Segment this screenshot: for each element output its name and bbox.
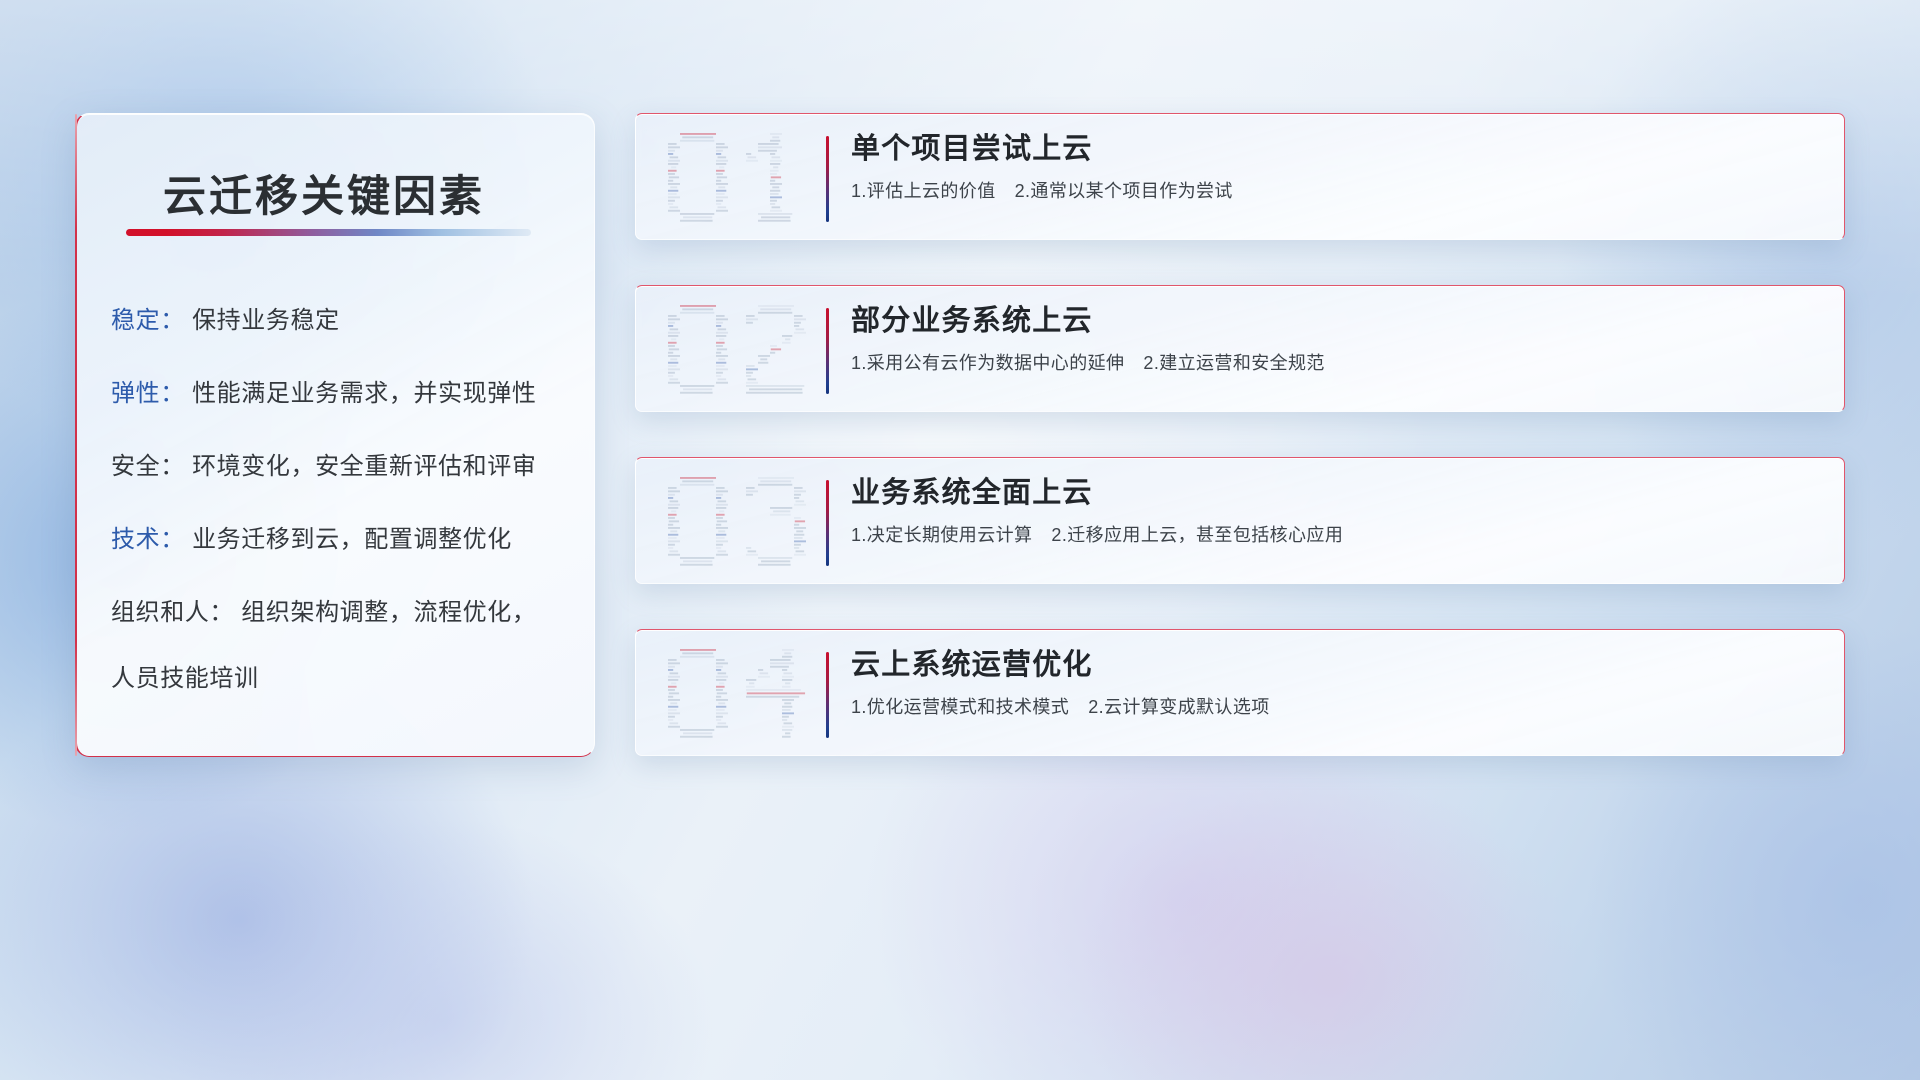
stage-card-title: 业务系统全面上云 (851, 475, 1824, 511)
key-factor-label: 安全： (111, 453, 185, 480)
card-divider-accent (826, 308, 829, 394)
key-factor-text: 性能满足业务需求，并实现弹性 (185, 380, 537, 407)
stage-card-subtitle: 1.决定长期使用云计算2.迁移应用上云，甚至包括核心应用 (851, 524, 1824, 547)
sliced-digits-icon (662, 300, 822, 400)
stage-card-body: 云上系统运营优化1.优化运营模式和技术模式2.云计算变成默认选项 (851, 647, 1824, 720)
stage-cards-list: 单个项目尝试上云1.评估上云的价值2.通常以某个项目作为尝试部分业务系统上云1.… (635, 113, 1845, 756)
stage-card-subtitle-item-2: 2.迁移应用上云，甚至包括核心应用 (1051, 525, 1343, 545)
key-factor-label: 稳定： (111, 307, 185, 334)
page-title: 云迁移关键因素 (163, 162, 485, 224)
stage-card-subtitle: 1.评估上云的价值2.通常以某个项目作为尝试 (851, 180, 1824, 203)
card-divider-accent (826, 136, 829, 222)
key-factor-label: 弹性： (111, 380, 185, 407)
background-glow-bottom-left-2 (60, 740, 820, 1080)
stage-card-subtitle-item-2: 2.云计算变成默认选项 (1088, 697, 1269, 717)
key-factor-item: 安全： 环境变化，安全重新评估和评审 (111, 455, 571, 479)
stage-card-subtitle-item-1: 1.优化运营模式和技术模式 (851, 697, 1069, 717)
stage-card-body: 部分业务系统上云1.采用公有云作为数据中心的延伸2.建立运营和安全规范 (851, 303, 1824, 376)
key-factors-list: 稳定： 保持业务稳定弹性： 性能满足业务需求，并实现弹性安全： 环境变化，安全重… (111, 309, 571, 691)
key-factor-item: 人员技能培训 (111, 667, 571, 691)
stage-card-body: 单个项目尝试上云1.评估上云的价值2.通常以某个项目作为尝试 (851, 131, 1824, 204)
stage-card-title: 云上系统运营优化 (851, 647, 1824, 683)
key-factor-text: 保持业务稳定 (185, 307, 340, 334)
stage-card-subtitle-item-1: 1.评估上云的价值 (851, 181, 996, 201)
key-factor-label: 组织和人： (111, 599, 234, 626)
sliced-digits-icon (662, 644, 822, 744)
stage-card[interactable]: 业务系统全面上云1.决定长期使用云计算2.迁移应用上云，甚至包括核心应用 (635, 457, 1845, 584)
sliced-digits-icon (662, 472, 822, 572)
card-divider-accent (826, 652, 829, 738)
stage-card-subtitle-item-1: 1.采用公有云作为数据中心的延伸 (851, 353, 1124, 373)
key-factor-text: 业务迁移到云，配置调整优化 (185, 526, 512, 553)
key-factor-label: 技术： (111, 526, 185, 553)
stage-card-body: 业务系统全面上云1.决定长期使用云计算2.迁移应用上云，甚至包括核心应用 (851, 475, 1824, 548)
stage-card-subtitle: 1.优化运营模式和技术模式2.云计算变成默认选项 (851, 696, 1824, 719)
stage-card-subtitle-item-2: 2.通常以某个项目作为尝试 (1015, 181, 1233, 201)
stage-card-subtitle-item-1: 1.决定长期使用云计算 (851, 525, 1032, 545)
key-factor-item: 技术： 业务迁移到云，配置调整优化 (111, 528, 571, 552)
stage-card[interactable]: 部分业务系统上云1.采用公有云作为数据中心的延伸2.建立运营和安全规范 (635, 285, 1845, 412)
card-divider-accent (826, 480, 829, 566)
stage-card[interactable]: 云上系统运营优化1.优化运营模式和技术模式2.云计算变成默认选项 (635, 629, 1845, 756)
key-factor-text: 环境变化，安全重新评估和评审 (185, 453, 537, 480)
stage-card-subtitle: 1.采用公有云作为数据中心的延伸2.建立运营和安全规范 (851, 352, 1824, 375)
title-underline-accent (126, 229, 531, 236)
sliced-digits-icon (662, 128, 822, 228)
stage-card-title: 单个项目尝试上云 (851, 131, 1824, 167)
key-factors-panel: 云迁移关键因素 稳定： 保持业务稳定弹性： 性能满足业务需求，并实现弹性安全： … (75, 113, 595, 757)
key-factor-text: 人员技能培训 (111, 665, 259, 692)
key-factor-item: 组织和人： 组织架构调整，流程优化， (111, 601, 571, 625)
stage-card-title: 部分业务系统上云 (851, 303, 1824, 339)
stage-card-subtitle-item-2: 2.建立运营和安全规范 (1143, 353, 1324, 373)
stage-card[interactable]: 单个项目尝试上云1.评估上云的价值2.通常以某个项目作为尝试 (635, 113, 1845, 240)
key-factor-text: 组织架构调整，流程优化， (234, 599, 536, 626)
key-factor-item: 稳定： 保持业务稳定 (111, 309, 571, 333)
key-factor-item: 弹性： 性能满足业务需求，并实现弹性 (111, 382, 571, 406)
